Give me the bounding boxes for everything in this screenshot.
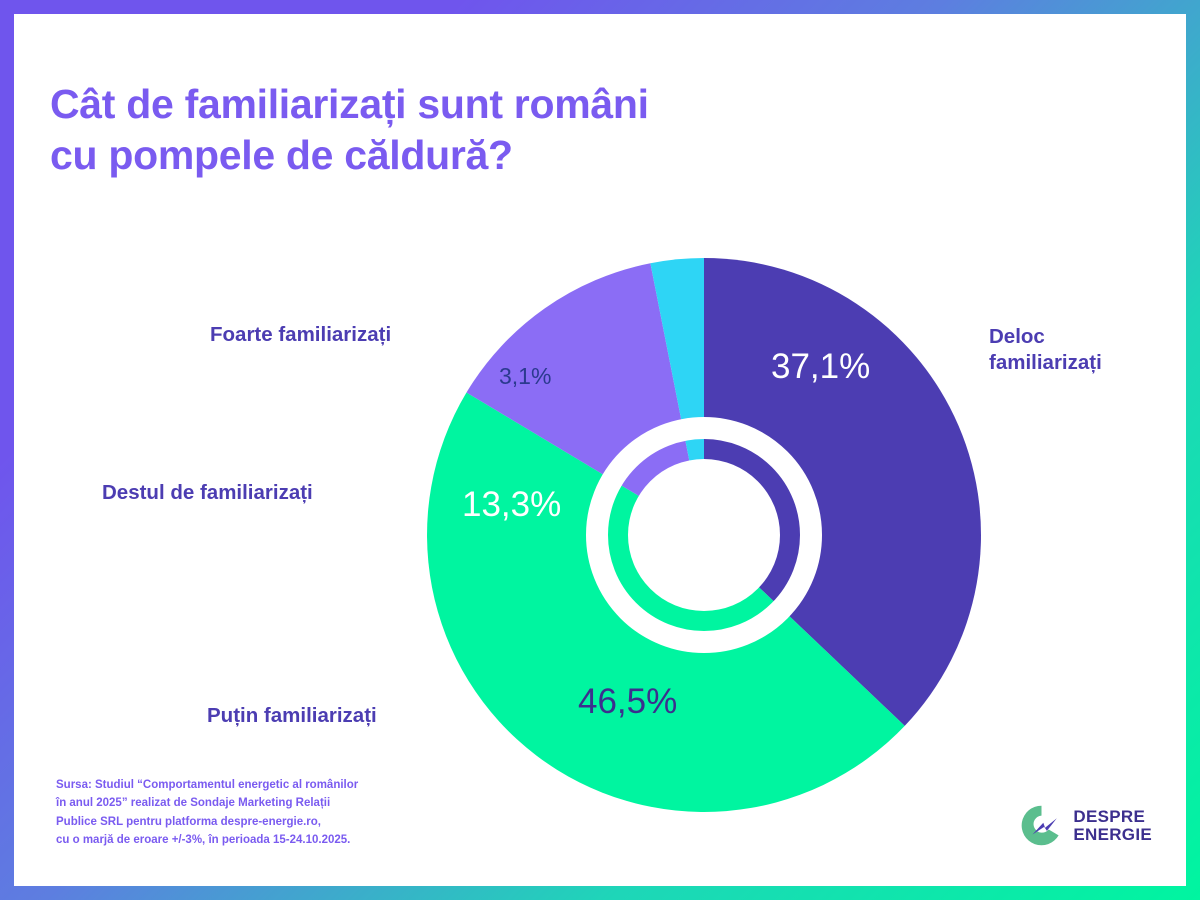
infographic-poster: Cât de familiarizați sunt români cu pomp… <box>0 0 1200 900</box>
category-label-destul: Destul de familiarizați <box>102 480 313 506</box>
despre-energie-logo-icon <box>1019 803 1064 848</box>
brand-logo-text-line-2: ENERGIE <box>1073 826 1152 843</box>
category-label-foarte: Foarte familiarizați <box>210 322 391 348</box>
donut-center-hole <box>628 459 780 611</box>
brand-logo: DESPRE ENERGIE <box>1019 803 1152 848</box>
source-note-line-1: Sursa: Studiul “Comportamentul energetic… <box>56 776 358 795</box>
pie-chart-svg <box>412 243 996 827</box>
brand-logo-text-line-1: DESPRE <box>1073 808 1152 825</box>
category-label-deloc-line-1: Deloc <box>989 325 1045 348</box>
category-label-putin: Puțin familiarizați <box>207 703 377 729</box>
source-note-line-2: în anul 2025” realizat de Sondaje Market… <box>56 794 358 813</box>
category-label-deloc-line-2: familiarizați <box>989 351 1102 374</box>
logo-ring-shape <box>1022 806 1059 846</box>
pie-chart: 37,1% 46,5% 13,3% 3,1% Deloc familiariza… <box>14 14 1186 886</box>
logo-bolt-icon <box>1033 818 1057 834</box>
source-note-line-4: cu o marjă de eroare +/-3%, în perioada … <box>56 831 358 850</box>
brand-logo-text: DESPRE ENERGIE <box>1073 808 1152 843</box>
category-label-deloc: Deloc familiarizați <box>989 324 1102 375</box>
source-note: Sursa: Studiul “Comportamentul energetic… <box>56 776 358 851</box>
infographic-canvas: Cât de familiarizați sunt români cu pomp… <box>14 14 1186 886</box>
source-note-line-3: Publice SRL pentru platforma despre-ener… <box>56 813 358 832</box>
